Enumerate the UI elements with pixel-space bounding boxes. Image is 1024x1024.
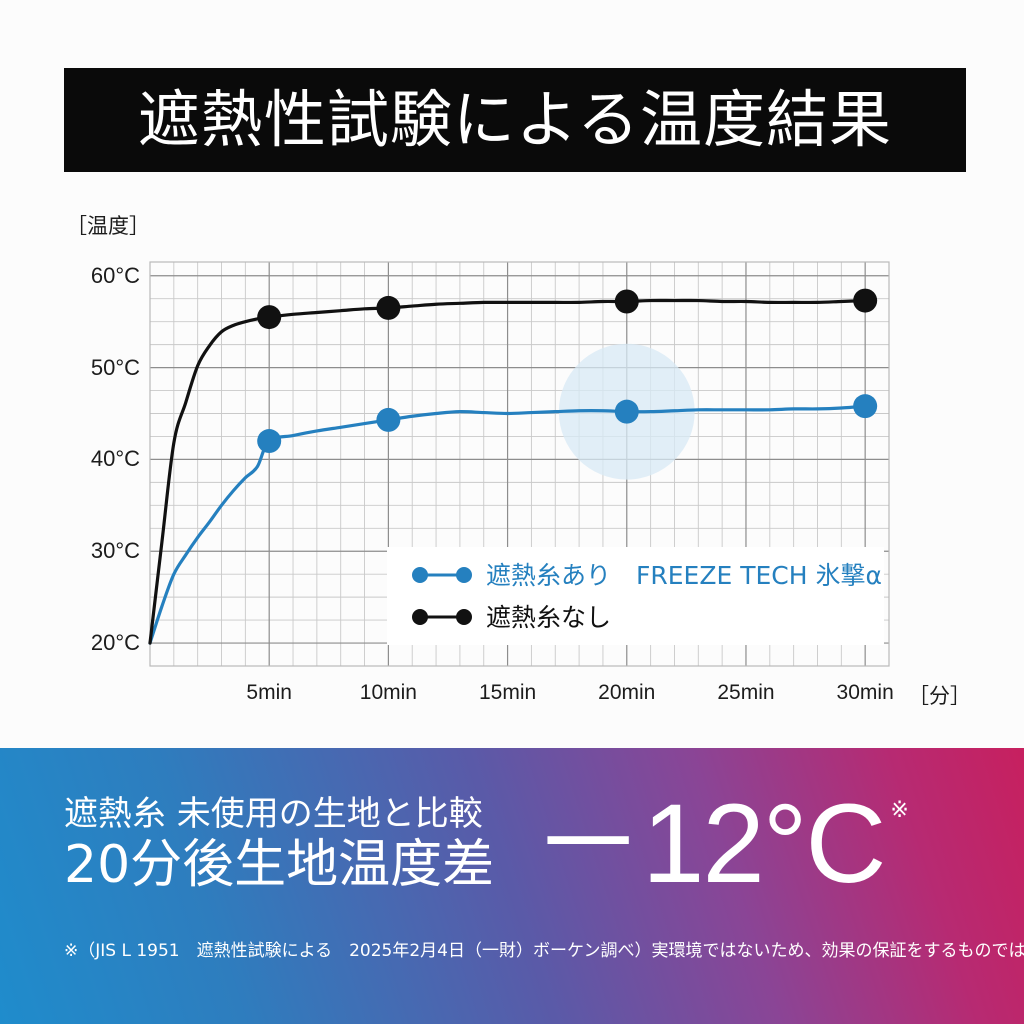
banner-headline: 20分後生地温度差 [64, 836, 494, 894]
legend-swatch-black [411, 607, 473, 627]
banner-main: 遮熱糸 未使用の生地と比較 20分後生地温度差 －12°C ※ [64, 784, 964, 900]
y-tick-30: 30°C [91, 538, 140, 564]
result-banner: 遮熱糸 未使用の生地と比較 20分後生地温度差 －12°C ※ ※（JIS L … [0, 748, 1024, 1024]
y-tick-40: 40°C [91, 446, 140, 472]
x-tick-15min: 15min [479, 681, 536, 705]
legend-item-with-yarn: 遮熱糸あり FREEZE TECH 氷撃α [411, 558, 884, 592]
banner-asterisk-mark: ※ [890, 800, 908, 822]
x-tick-25min: 25min [717, 681, 774, 705]
x-tick-5min: 5min [246, 681, 292, 705]
chart-legend: 遮熱糸あり FREEZE TECH 氷撃α 遮熱糸なし [387, 547, 884, 645]
banner-subtitle: 遮熱糸 未使用の生地と比較 [64, 794, 494, 834]
y-tick-50: 50°C [91, 355, 140, 381]
x-axis-tick-labels: 5min10min15min20min25min30min [0, 681, 1024, 711]
banner-value-block: －12°C ※ [532, 784, 909, 900]
x-tick-20min: 20min [598, 681, 655, 705]
y-tick-20: 20°C [91, 630, 140, 656]
legend-label-without-yarn: 遮熱糸なし [486, 605, 611, 630]
x-tick-10min: 10min [360, 681, 417, 705]
banner-footnote: ※（JIS L 1951 遮熱性試験による 2025年2月4日（一財）ボーケン調… [64, 940, 984, 964]
legend-swatch-blue [411, 565, 473, 585]
infographic-page: 遮熱性試験による温度結果 ［温度］ ［分］ 20°C30°C40°C50°C60… [0, 0, 1024, 1024]
y-axis-tick-labels: 20°C30°C40°C50°C60°C [62, 0, 140, 748]
legend-item-without-yarn: 遮熱糸なし [411, 600, 884, 634]
y-tick-60: 60°C [91, 263, 140, 289]
legend-label-with-yarn: 遮熱糸あり FREEZE TECH 氷撃α [486, 563, 882, 588]
banner-text-block: 遮熱糸 未使用の生地と比較 20分後生地温度差 [64, 784, 494, 894]
banner-temperature-delta: －12°C [532, 788, 884, 900]
x-tick-30min: 30min [837, 681, 894, 705]
chart-section: 遮熱性試験による温度結果 ［温度］ ［分］ 20°C30°C40°C50°C60… [0, 0, 1024, 748]
